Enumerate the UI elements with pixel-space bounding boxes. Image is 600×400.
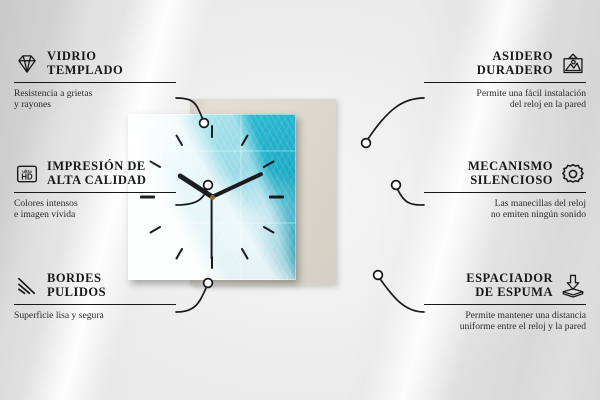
feature-title: ASIDERO DURADERO <box>477 50 553 77</box>
feature-title: VIDRIO TEMPLADO <box>47 50 123 77</box>
diagonal-lines-icon <box>14 273 40 299</box>
feature-divider <box>14 304 176 305</box>
feature-description: Las manecillas del reloj no emiten ningú… <box>424 198 586 221</box>
feature-description: Resistencia a grietas y rayones <box>14 88 176 111</box>
feature-asidero-duradero: ASIDERO DURADERO Permite una fácil insta… <box>424 50 586 111</box>
feature-impresion-alta-calidad: ultra HD IMPRESIÓN DE ALTA CALIDAD Color… <box>14 160 176 221</box>
feature-title: BORDES PULIDOS <box>47 272 106 299</box>
feature-title: ESPACIADOR DE ESPUMA <box>466 272 553 299</box>
feature-mecanismo-silencioso: MECANISMO SILENCIOSO Las manecillas del … <box>424 160 586 221</box>
feature-description: Permite mantener una distancia uniforme … <box>424 310 586 333</box>
feature-description: Permite una fácil instalación del reloj … <box>424 88 586 111</box>
svg-text:HD: HD <box>21 172 33 181</box>
feature-divider <box>14 192 176 193</box>
ultra-hd-badge-icon: ultra HD <box>14 161 40 187</box>
feature-divider <box>424 82 586 83</box>
down-arrow-foam-icon <box>560 273 586 299</box>
feature-title: MECANISMO SILENCIOSO <box>468 160 553 187</box>
feature-title: IMPRESIÓN DE ALTA CALIDAD <box>47 160 146 187</box>
feature-description: Colores intensos e imagen vívida <box>14 198 176 221</box>
feature-divider <box>424 304 586 305</box>
feature-vidrio-templado: VIDRIO TEMPLADO Resistencia a grietas y … <box>14 50 176 111</box>
feature-bordes-pulidos: BORDES PULIDOS Superficie lisa y segura <box>14 272 176 321</box>
feature-divider <box>14 82 176 83</box>
feature-description: Superficie lisa y segura <box>14 310 176 321</box>
gear-icon <box>560 161 586 187</box>
framed-picture-icon <box>560 51 586 77</box>
feature-divider <box>424 192 586 193</box>
diamond-icon <box>14 51 40 77</box>
feature-espaciador-de-espuma: ESPACIADOR DE ESPUMA Permite mantener un… <box>424 272 586 333</box>
infographic-canvas: VIDRIO TEMPLADO Resistencia a grietas y … <box>0 0 600 400</box>
